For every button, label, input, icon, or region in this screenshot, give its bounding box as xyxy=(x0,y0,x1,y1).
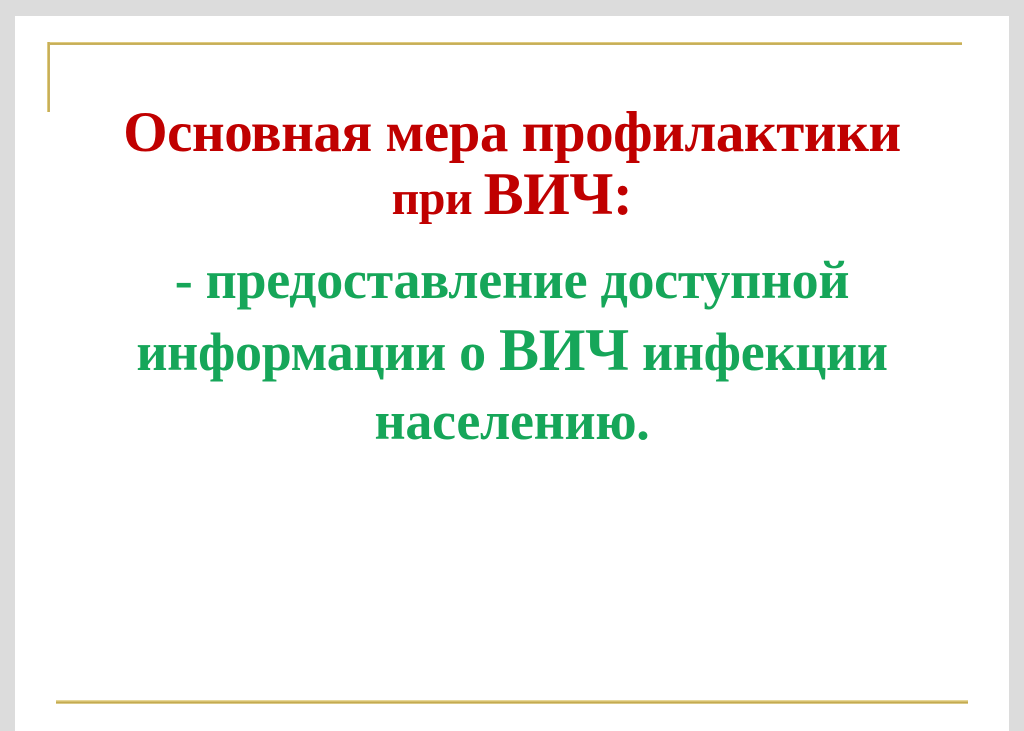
slide-frame: Основная мера профилактики при ВИЧ: - пр… xyxy=(0,0,1024,731)
slide-body-line-3: населению. xyxy=(15,394,1009,449)
slide-heading-acronym: ВИЧ: xyxy=(484,161,633,227)
slide-heading-prefix-word: при xyxy=(392,172,484,225)
slide-body-acronym: ВИЧ xyxy=(499,317,629,383)
slide-body-line-2: информации о ВИЧ инфекции xyxy=(15,320,1009,381)
gold-horizontal-rule-top-icon xyxy=(47,42,962,45)
slide-text-content: Основная мера профилактики при ВИЧ: - пр… xyxy=(15,104,1009,449)
slide-heading-line-1: Основная мера профилактики xyxy=(15,104,1009,162)
slide-body-line-2-part-2: инфекции xyxy=(629,322,888,382)
gold-vertical-rule-left-icon xyxy=(47,42,50,112)
slide-canvas: Основная мера профилактики при ВИЧ: - пр… xyxy=(15,16,1009,731)
gold-horizontal-rule-bottom-icon xyxy=(56,700,968,704)
slide-heading-line-2: при ВИЧ: xyxy=(15,164,1009,225)
slide-body-line-1: - предоставление доступной xyxy=(15,253,1009,308)
slide-body-line-2-part-1: информации о xyxy=(136,322,499,382)
